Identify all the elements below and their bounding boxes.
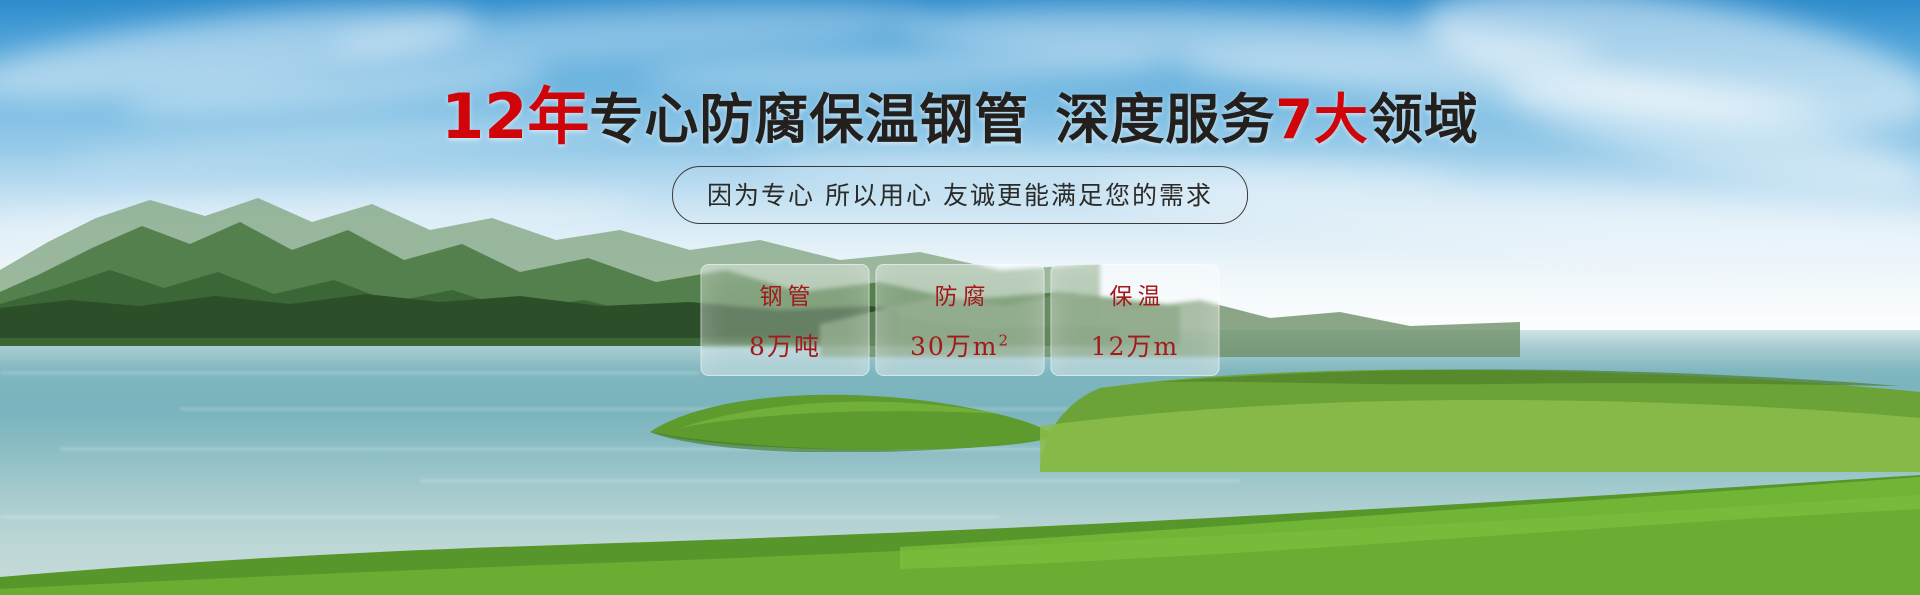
- cloud-wisp: [899, 0, 1601, 82]
- cloud-wisp: [329, 0, 931, 77]
- stat-card-value-text: 12万m: [1091, 332, 1180, 361]
- stat-card-title: 保温: [1105, 277, 1166, 311]
- headline-main-text: 专心防腐保温钢管: [589, 88, 1029, 151]
- hero-banner: 12年专心防腐保温钢管深度服务7大领域 因为专心 所以用心 友诚更能满足您的需求…: [0, 0, 1920, 595]
- stat-card-value: 8万吨: [749, 327, 821, 363]
- stat-card-value-sup: 2: [998, 332, 1010, 350]
- headline-service-text: 深度服务: [1055, 88, 1275, 151]
- subtitle-pill: 因为专心 所以用心 友诚更能满足您的需求: [672, 166, 1248, 224]
- subtitle-text: 因为专心 所以用心 友诚更能满足您的需求: [707, 181, 1213, 210]
- headline-years-red: 12年: [441, 80, 589, 153]
- stat-card-value: 30万m2: [910, 327, 1010, 363]
- headline-seven-red: 7大: [1275, 88, 1369, 151]
- stat-card-value: 12万m: [1091, 327, 1180, 363]
- stat-card-value-text: 30万m: [910, 332, 999, 361]
- cloud-wisp: [0, 184, 641, 254]
- stat-card-title: 防腐: [930, 277, 991, 311]
- stat-card-insulation[interactable]: 保温 12万m: [1051, 264, 1220, 376]
- stat-card-anticorrosion[interactable]: 防腐 30万m2: [876, 264, 1045, 376]
- stat-card-steel-pipe[interactable]: 钢管 8万吨: [701, 264, 870, 376]
- stat-cards: 钢管 8万吨 防腐 30万m2 保温 12万m: [701, 264, 1220, 376]
- page-title: 12年专心防腐保温钢管深度服务7大领域: [0, 86, 1920, 148]
- stat-card-title: 钢管: [755, 277, 816, 311]
- headline-fields-text: 领域: [1369, 88, 1479, 151]
- stat-card-value-text: 8万吨: [749, 332, 821, 361]
